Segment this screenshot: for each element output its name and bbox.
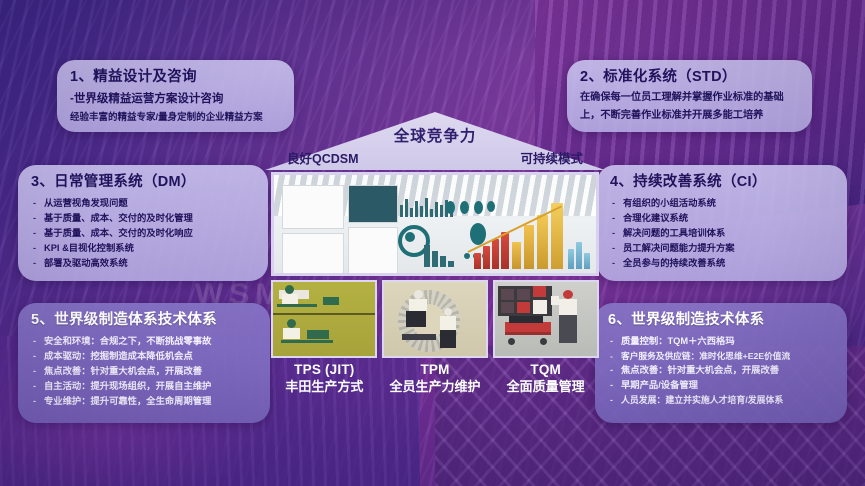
pillar-tpm-en: TPM [380, 362, 491, 379]
card-continuous-improvement-system[interactable]: 4、持续改善系统（CI） 有组织的小组活动系统 合理化建议系统 解决问题的工具培… [597, 165, 847, 281]
photo-tpm [382, 280, 488, 358]
kpi-dot [446, 201, 455, 214]
list-item: 质量控制：TQM＋六西格玛 [608, 334, 834, 349]
list-item: 部署及驱动高效系统 [31, 256, 255, 271]
card6-title: 6、世界级制造技术体系 [608, 311, 834, 329]
card-lean-design-consulting[interactable]: 1、精益设计及咨询 -世界级精益运营方案设计咨询 经验丰富的精益专家/量身定制的… [57, 60, 294, 132]
list-item: 焦点改善：针对重大机会点，开展改善 [608, 363, 834, 378]
list-item: 解决问题的工具培训体系 [610, 226, 834, 241]
pillar-tqm: TQM 全面质量管理 [490, 362, 601, 396]
list-item: 基于质量、成本、交付的及时化响应 [31, 226, 255, 241]
pillar-tps-cn: 丰田生产方式 [269, 379, 380, 396]
dashboard-photo [271, 172, 599, 276]
roof-left-label: 良好QCDSM [287, 148, 359, 167]
list-item: 员工解决问题能力提升方案 [610, 241, 834, 256]
dash-panel [348, 185, 398, 223]
list-item: 早期产品/设备管理 [608, 378, 834, 393]
card5-list: 安全和环境：合规之下，不断挑战零事故 成本驱动：挖掘制造成本降低机会点 焦点改善… [31, 334, 257, 409]
pillar-tps-en: TPS (JIT) [269, 362, 380, 379]
card-daily-management-system[interactable]: 3、日常管理系统（DM） 从运营视角发现问题 基于质量、成本、交付的及时化管理 … [18, 165, 268, 281]
dash-panel [282, 185, 344, 229]
pillar-tpm: TPM 全员生产力维护 [380, 362, 491, 396]
card1-detail: 经验丰富的精益专家/量身定制的企业精益方案 [70, 111, 281, 125]
pillar-tpm-cn: 全员生产力维护 [380, 379, 491, 396]
donut-center [405, 232, 415, 242]
list-item: 专业维护：提升可靠性，全生命周期管理 [31, 394, 257, 409]
card2-line1: 在确保每一位员工理解并掌握作业标准的基础 [580, 91, 799, 106]
dash-panel [348, 227, 398, 275]
pillar-tps: TPS (JIT) 丰田生产方式 [269, 362, 380, 396]
card4-list: 有组织的小组活动系统 合理化建议系统 解决问题的工具培训体系 员工解决问题能力提… [610, 196, 834, 271]
list-item: 从运营视角发现问题 [31, 196, 255, 211]
list-item: 焦点改善：针对重大机会点，开展改善 [31, 364, 257, 379]
list-item: 成本驱动：挖掘制造成本降低机会点 [31, 349, 257, 364]
card3-title: 3、日常管理系统（DM） [31, 173, 255, 191]
roof-right-label: 可持续模式 [520, 148, 583, 167]
pillar-labels: TPS (JIT) 丰田生产方式 TPM 全员生产力维护 TQM 全面质量管理 [265, 362, 605, 396]
card-wcm-system-technology[interactable]: 5、世界级制造体系技术体系 安全和环境：合规之下，不断挑战零事故 成本驱动：挖掘… [18, 303, 270, 423]
card1-title: 1、精益设计及咨询 [70, 68, 281, 86]
house-diagram: 全球竞争力 良好QCDSM 可持续模式 [265, 112, 605, 374]
card3-list: 从运营视角发现问题 基于质量、成本、交付的及时化管理 基于质量、成本、交付的及时… [31, 196, 255, 271]
card6-list: 质量控制：TQM＋六西格玛 客户服务及供应链：准时化思维+E2E价值流 焦点改善… [608, 334, 834, 408]
card2-line2: 上，不断完善作业标准并开展多能工培养 [580, 109, 799, 124]
roof-subtitles: 良好QCDSM 可持续模式 [265, 148, 605, 167]
card-wcm-manufacturing-technology[interactable]: 6、世界级制造技术体系 质量控制：TQM＋六西格玛 客户服务及供应链：准时化思维… [595, 303, 847, 423]
list-item: 客户服务及供应链：准时化思维+E2E价值流 [608, 349, 834, 363]
growth-bar-chart [472, 201, 592, 273]
list-item: 安全和环境：合规之下，不断挑战零事故 [31, 334, 257, 349]
list-item: 合理化建议系统 [610, 211, 834, 226]
photo-tps [271, 280, 377, 358]
kpi-dot [464, 253, 470, 259]
slide-canvas: WSM 1、精益设计及咨询 -世界级精益运营方案设计咨询 经验丰富的精益专家/量… [0, 0, 865, 486]
house-roof-content: 全球竞争力 良好QCDSM 可持续模式 [265, 112, 605, 170]
card1-subtitle: -世界级精益运营方案设计咨询 [70, 91, 281, 108]
kpi-dot [460, 201, 469, 214]
pillar-photos [271, 280, 599, 358]
dash-panel [282, 233, 344, 275]
roof-title: 全球竞争力 [265, 124, 605, 146]
card2-title: 2、标准化系统（STD） [580, 68, 799, 86]
list-item: 全员参与的持续改善系统 [610, 256, 834, 271]
list-item: 自主活动：提升现场组织，开展自主维护 [31, 379, 257, 394]
card5-title: 5、世界级制造体系技术体系 [31, 311, 257, 329]
list-item: 人员发展：建立并实施人才培育/发展体系 [608, 393, 834, 407]
list-item: KPI &目视化控制系统 [31, 241, 255, 256]
list-item: 基于质量、成本、交付的及时化管理 [31, 211, 255, 226]
photo-tqm [493, 280, 599, 358]
card4-title: 4、持续改善系统（CI） [610, 173, 834, 191]
pillar-tqm-cn: 全面质量管理 [490, 379, 601, 396]
list-item: 有组织的小组活动系统 [610, 196, 834, 211]
pillar-tqm-en: TQM [490, 362, 601, 379]
bar-cluster [424, 243, 462, 267]
